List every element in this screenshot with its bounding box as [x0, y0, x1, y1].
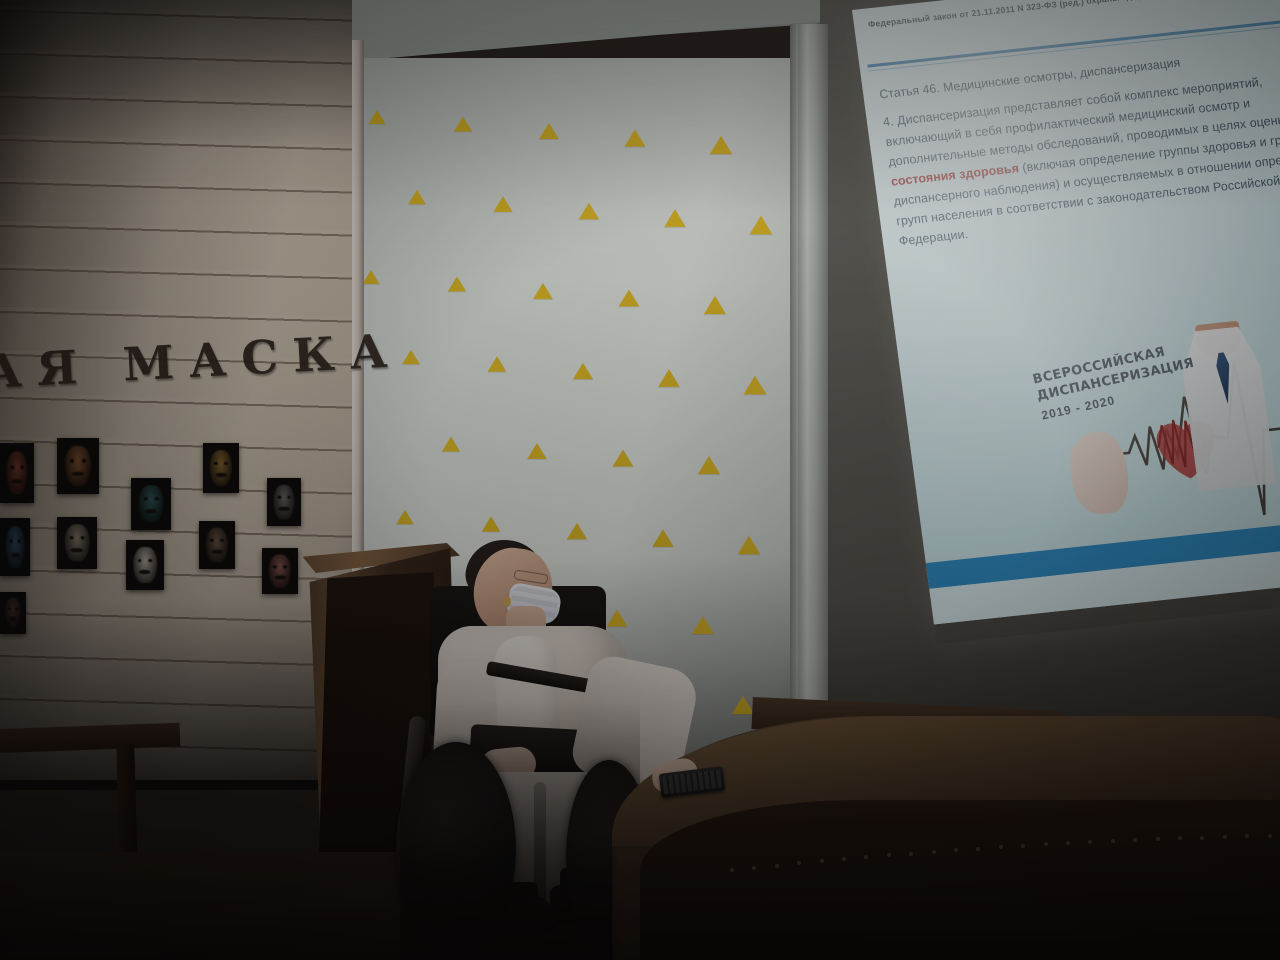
- desk-stud: [976, 847, 980, 851]
- slide-header: Федеральный закон от 21.11.2011 N 323-ФЗ…: [867, 0, 1280, 31]
- wall-triangle-decal: [750, 216, 773, 235]
- plank-wall-bottom-shadow: [0, 600, 352, 790]
- wall-triangle-decal: [482, 516, 501, 531]
- mask-eye: [210, 539, 214, 542]
- mask-orange-face: [57, 438, 99, 494]
- mask-white-dots: [126, 540, 164, 590]
- desk-stud-trim: [700, 834, 1280, 874]
- desk-stud: [932, 850, 936, 854]
- desk-stud: [909, 852, 913, 856]
- wall-triangle-decal: [704, 296, 726, 314]
- mask-eye: [80, 536, 84, 539]
- wall-triangle-decal: [619, 289, 640, 306]
- wall-triangle-decal: [692, 616, 714, 634]
- mask-shell-face: [199, 521, 235, 569]
- wall-triangle-decal: [573, 363, 593, 380]
- wall-triangle-decal: [710, 136, 732, 154]
- mask-grey-face: [267, 478, 301, 526]
- desk-stud: [1066, 841, 1070, 845]
- mask-pale-face: [57, 517, 97, 569]
- wall-triangle-decal: [732, 696, 755, 715]
- mask-amber-face: [203, 443, 239, 493]
- mask-red-grin: [0, 443, 34, 503]
- mask-eye: [214, 462, 218, 465]
- mask-eye: [138, 559, 142, 562]
- desk-stud: [954, 848, 958, 852]
- wall-triangle-decal: [567, 523, 587, 540]
- wall-triangle-decal: [579, 203, 599, 220]
- mask-mouth: [279, 507, 289, 511]
- mask-mouth: [212, 550, 223, 554]
- desk-stud: [1111, 839, 1115, 843]
- wall-triangle-decal: [539, 123, 559, 139]
- mask-eye: [278, 496, 281, 499]
- wall-triangle-decal: [658, 369, 680, 387]
- mask-eye: [144, 497, 148, 500]
- mask-mouth: [139, 570, 150, 574]
- desk-stud: [887, 853, 891, 857]
- mask-face-shape: [65, 446, 91, 486]
- wall-triangle-decal: [607, 609, 628, 626]
- wall-triangle-decal: [624, 129, 645, 146]
- mask-eye: [20, 465, 23, 469]
- desk-stud: [1021, 844, 1025, 848]
- mask-mouth: [71, 548, 83, 552]
- mask-eye: [9, 539, 12, 543]
- desk-stud: [820, 859, 824, 863]
- projector-wall-pilaster: [798, 24, 828, 724]
- mask-teal-face: [131, 478, 171, 530]
- wall-triangle-decal: [744, 376, 767, 395]
- wall-triangle-decal: [613, 449, 634, 466]
- wall-triangle-decal: [698, 456, 720, 474]
- mask-mouth: [11, 553, 20, 558]
- wall-triangle-decal: [408, 190, 426, 205]
- room-scene: АЯ МАСКА Федеральный закон от 21.11.2011…: [0, 0, 1280, 960]
- mask-eye: [224, 462, 228, 465]
- wall-triangle-decal: [362, 270, 379, 284]
- campaign-logo: ВСЕРОССИЙСКАЯ ДИСПАНСЕРИЗАЦИЯ 2019 - 202…: [1026, 308, 1280, 551]
- mask-eye: [82, 459, 86, 463]
- mask-eye: [148, 559, 152, 562]
- desk-stud: [1223, 835, 1227, 839]
- mask-face-shape: [273, 485, 294, 520]
- desk-stud: [842, 857, 846, 861]
- mask-eye: [287, 496, 290, 499]
- mask-mouth: [12, 479, 22, 484]
- wall-triangle-decal: [442, 437, 460, 452]
- desk-stud: [1178, 836, 1182, 840]
- mask-eye: [70, 536, 74, 539]
- desk-stud: [1268, 834, 1272, 838]
- mask-face-shape: [210, 450, 232, 486]
- mask-eye: [273, 565, 277, 568]
- desk-stud: [1200, 836, 1204, 840]
- mask-pink-face: [262, 548, 298, 594]
- wall-triangle-decal: [488, 356, 507, 371]
- desk-stud: [999, 845, 1003, 849]
- mask-face-shape: [269, 554, 291, 587]
- desk-stud: [730, 868, 734, 872]
- mask-eye: [70, 459, 74, 463]
- earring: [504, 596, 511, 607]
- desk-stud: [775, 864, 779, 868]
- desk-stud: [1156, 837, 1160, 841]
- mask-face-shape: [65, 524, 90, 561]
- wall-triangle-decal: [493, 196, 512, 212]
- mask-face-shape: [133, 547, 157, 583]
- desk-stud: [1245, 834, 1249, 838]
- mask-mouth: [275, 576, 286, 580]
- plank-wall-top-shadow: [0, 0, 352, 150]
- wall-triangle-decal: [448, 276, 466, 291]
- wall-triangle-decal: [664, 209, 686, 227]
- mask-face-shape: [6, 526, 25, 568]
- wall-triangle-decal: [738, 536, 761, 555]
- mask-mouth: [72, 472, 84, 476]
- desk-stud: [1044, 842, 1048, 846]
- mask-eye: [11, 465, 14, 469]
- keyboard-keys: [662, 770, 722, 795]
- desk-stud: [1133, 838, 1137, 842]
- mask-blue-face: [0, 518, 30, 576]
- mask-eye: [283, 565, 287, 568]
- mask-mouth: [216, 473, 227, 477]
- mask-mouth: [145, 509, 157, 513]
- mask-eye: [18, 539, 21, 543]
- desk-stud: [752, 866, 756, 870]
- desk-front-panel: [640, 800, 1280, 960]
- wall-triangle-decal: [454, 116, 472, 131]
- wheelchair-frame: [400, 700, 640, 960]
- mask-eye: [220, 539, 224, 542]
- slide-body: Статья 46. Медицинские осмотры, диспансе…: [878, 38, 1280, 252]
- desk-stud: [1088, 840, 1092, 844]
- desk-stud: [864, 855, 868, 859]
- wall-triangle-decal: [396, 510, 414, 524]
- mask-face-shape: [139, 485, 164, 522]
- mask-eye: [154, 497, 158, 500]
- wall-triangle-decal: [533, 283, 553, 299]
- mask-face-shape: [6, 451, 27, 494]
- wall-triangle-decal: [652, 529, 674, 547]
- wall-triangle-decal: [402, 350, 420, 365]
- desk-stud: [797, 861, 801, 865]
- wall-triangle-decal: [527, 443, 547, 459]
- wall-triangle-decal: [368, 110, 385, 124]
- mask-face-shape: [206, 528, 228, 563]
